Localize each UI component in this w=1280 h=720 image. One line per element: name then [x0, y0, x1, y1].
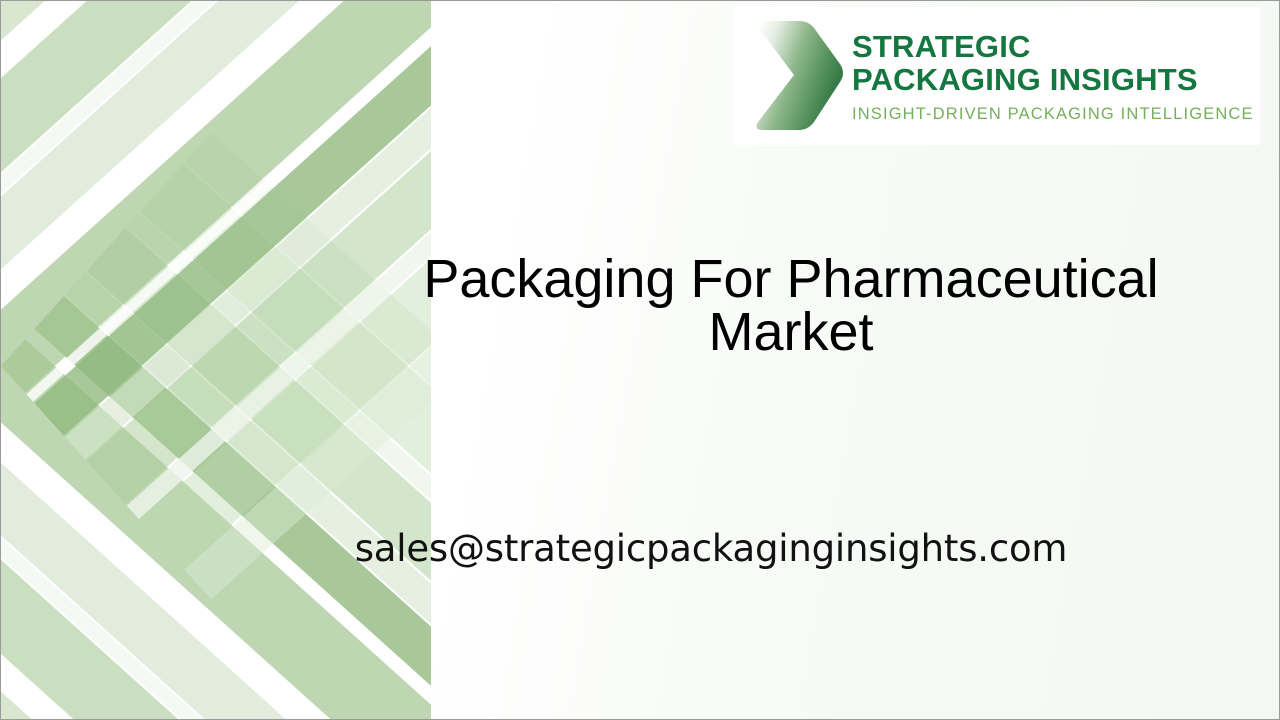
chevron-right-icon	[742, 17, 846, 135]
chevron-stripe	[1, 1, 359, 186]
chevron-stripe	[1, 461, 431, 720]
logo-wordmark: STRATEGIC PACKAGING INSIGHTS INSIGHT-DRI…	[852, 28, 1254, 125]
logo-tagline: INSIGHT-DRIVEN PACKAGING INTELLIGENCE	[852, 103, 1254, 125]
presentation-slide: STRATEGIC PACKAGING INSIGHTS INSIGHT-DRI…	[0, 0, 1280, 720]
chevron-stripe	[65, 1, 431, 460]
logo-name-line-1: STRATEGIC	[852, 30, 1254, 63]
chevron-stripe	[34, 296, 431, 720]
chevron-lower-arm	[1, 1, 431, 720]
chevron-stripe	[34, 1, 431, 436]
decorative-chevron-artwork	[1, 1, 431, 720]
chevron-upper-arm	[1, 1, 431, 720]
chevron-stripe	[140, 164, 431, 680]
logo-name-line-2: PACKAGING INSIGHTS	[852, 63, 1254, 96]
slide-title: Packaging For Pharmaceutical Market	[361, 253, 1221, 359]
chevron-stripe	[1, 1, 377, 205]
chevron-stripe	[1, 1, 425, 259]
chevron-stripe	[1, 473, 425, 720]
contact-email: sales@strategicpackaginginsights.com	[201, 525, 1221, 573]
company-logo: STRATEGIC PACKAGING INSIGHTS INSIGHT-DRI…	[734, 7, 1260, 145]
chevron-stripe	[1, 1, 431, 271]
